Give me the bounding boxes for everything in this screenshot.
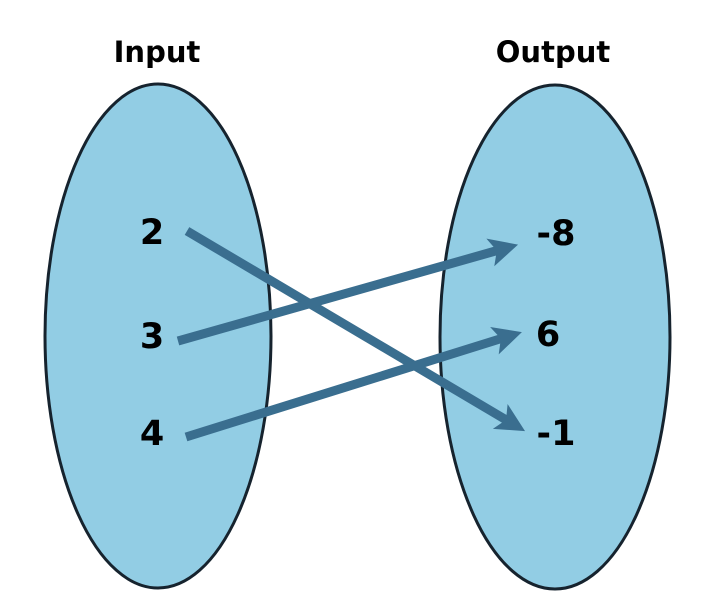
mapping-diagram-canvas: Input Output 2 3 4 -8 6 -1 [0,0,702,608]
output-element-neg1: -1 [537,414,576,454]
output-element-neg8: -8 [537,214,576,254]
input-set-title: Input [114,35,201,69]
input-element-3: 3 [140,317,164,357]
mapping-diagram-svg: Input Output 2 3 4 -8 6 -1 [0,0,702,608]
output-element-6: 6 [536,315,560,355]
input-element-2: 2 [140,213,164,253]
input-element-4: 4 [140,414,164,454]
output-set-title: Output [496,35,611,69]
